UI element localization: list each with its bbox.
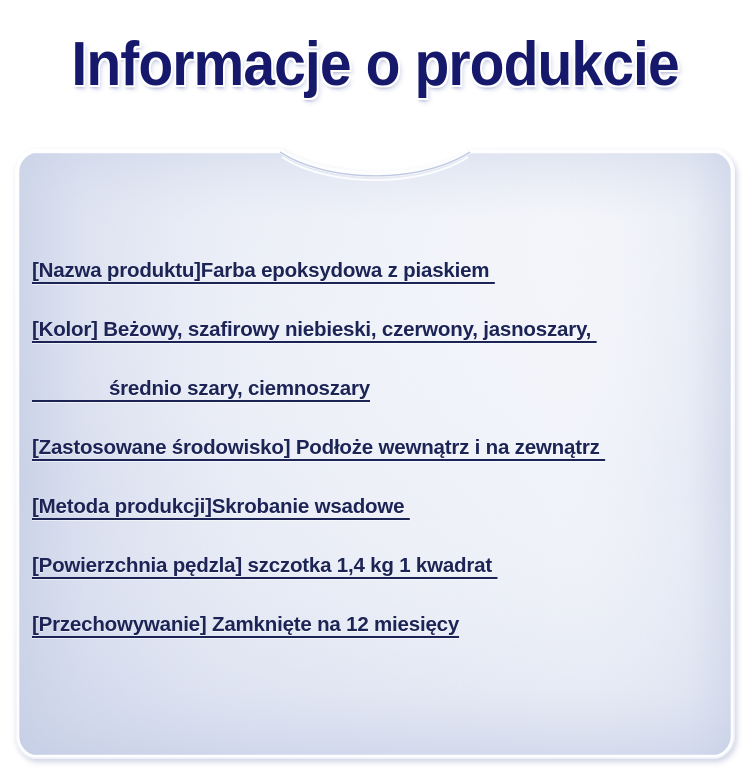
spec-line-storage: [Przechowywanie] Zamknięte na 12 miesięc… — [32, 612, 702, 638]
spec-line-color-cont: średnio szary, ciemnoszary — [32, 376, 702, 402]
product-info-page: Informacje o produkcie — [0, 0, 750, 777]
spec-line-environment: [Zastosowane środowisko] Podłoże wewnątr… — [32, 435, 702, 461]
page-title: Informacje o produkcie — [71, 28, 678, 102]
page-title-wrapper: Informacje o produkcie — [0, 28, 750, 108]
spec-line-production: [Metoda produkcji]Skrobanie wsadowe — [32, 494, 702, 520]
spec-line-color: [Kolor] Beżowy, szafirowy niebieski, cze… — [32, 317, 702, 343]
spec-list: [Nazwa produktu]Farba epoksydowa z piask… — [32, 258, 702, 638]
spec-line-product-name: [Nazwa produktu]Farba epoksydowa z piask… — [32, 258, 702, 284]
spec-line-brush-surface: [Powierzchnia pędzla] szczotka 1,4 kg 1 … — [32, 553, 702, 579]
